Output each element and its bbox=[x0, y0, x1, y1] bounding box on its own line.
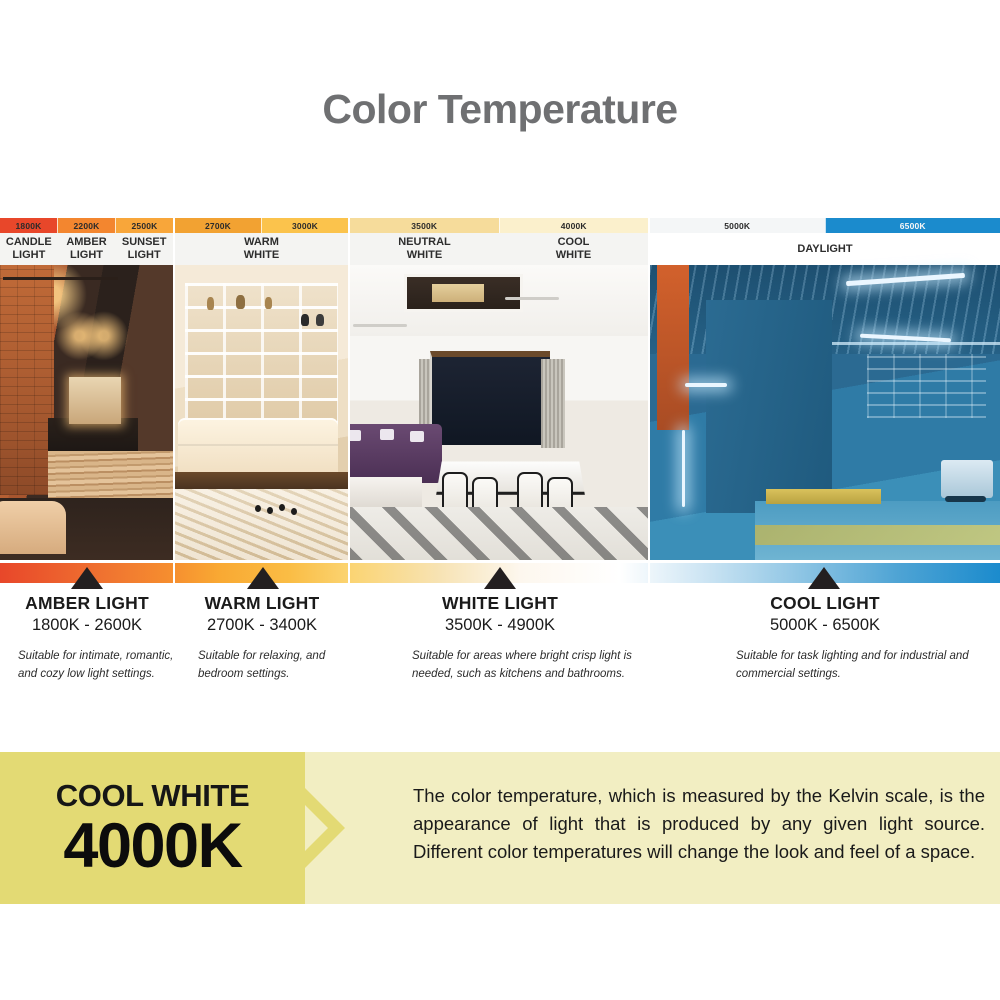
caption-amber-light: AMBER LIGHT 1800K - 2600K Suitable for i… bbox=[0, 594, 174, 684]
caption-warm-light: WARM LIGHT 2700K - 3400K Suitable for re… bbox=[174, 594, 350, 684]
label-line-2: LIGHT bbox=[12, 249, 45, 262]
decor-object bbox=[316, 314, 324, 326]
kelvin-cell-5000k: 5000K bbox=[650, 218, 825, 233]
guard-rail bbox=[766, 489, 882, 504]
banner-body-block: The color temperature, which is measured… bbox=[305, 752, 1000, 904]
label-line-1: COOL bbox=[558, 236, 590, 249]
kelvin-bar-amber: 1800K 2200K 2500K bbox=[0, 218, 173, 233]
panel-amber[interactable]: 1800K 2200K 2500K CANDLE LIGHT AMBER LIG… bbox=[0, 218, 173, 560]
caption-description: Suitable for relaxing, and bedroom setti… bbox=[174, 648, 350, 684]
bottom-banner: COOL WHITE 4000K The color temperature, … bbox=[0, 752, 1000, 904]
kelvin-cell-6500k: 6500K bbox=[825, 218, 1000, 233]
name-cell-neutral-white: NEUTRAL WHITE bbox=[350, 233, 499, 265]
label-line-1: CANDLE bbox=[6, 236, 52, 249]
label-line-1: SUNSET bbox=[122, 236, 167, 249]
banner-body-text: The color temperature, which is measured… bbox=[413, 782, 985, 865]
kelvin-cell-2200k: 2200K bbox=[57, 218, 115, 233]
gradient-divider bbox=[648, 563, 650, 583]
label-line-2: WHITE bbox=[556, 249, 591, 262]
leather-bench bbox=[0, 501, 66, 554]
delivery-truck bbox=[941, 460, 994, 498]
cushion bbox=[380, 429, 394, 440]
chess-piece bbox=[255, 505, 261, 512]
ceiling-rail bbox=[3, 277, 117, 280]
label-line-1: WARM bbox=[244, 236, 279, 249]
caption-range: 5000K - 6500K bbox=[650, 616, 1000, 634]
led-tube-light bbox=[682, 430, 685, 507]
name-band-neutral-cool: NEUTRAL WHITE COOL WHITE bbox=[350, 233, 648, 265]
cushion bbox=[350, 430, 361, 441]
ceiling-fan bbox=[353, 324, 407, 327]
gradient-divider bbox=[173, 563, 175, 583]
kelvin-cell-3000k: 3000K bbox=[261, 218, 348, 233]
overhead-rack bbox=[867, 354, 986, 419]
banner-highlight-label: COOL WHITE bbox=[56, 778, 249, 814]
photo-brick-cafe bbox=[0, 265, 173, 560]
photo-cream-lounge bbox=[175, 265, 348, 560]
caption-description: Suitable for areas where bright crisp li… bbox=[350, 648, 650, 684]
pointer-triangle-white bbox=[484, 567, 516, 589]
panel-warm[interactable]: 2700K 3000K WARM WHITE bbox=[175, 218, 348, 560]
caption-title: WARM LIGHT bbox=[174, 594, 350, 613]
kelvin-cell-3500k: 3500K bbox=[350, 218, 499, 233]
label-line-2: LIGHT bbox=[128, 249, 161, 262]
banner-highlight-kelvin: 4000K bbox=[63, 816, 241, 878]
label-line-1: DAYLIGHT bbox=[797, 243, 852, 255]
wood-panel bbox=[48, 451, 173, 498]
chevron-right-icon bbox=[305, 752, 365, 904]
kelvin-bar-warm: 2700K 3000K bbox=[175, 218, 348, 233]
structural-column bbox=[734, 289, 750, 513]
night-window bbox=[430, 351, 549, 445]
caption-white-light: WHITE LIGHT 3500K - 4900K Suitable for a… bbox=[350, 594, 650, 684]
decor-object bbox=[301, 314, 309, 326]
photo-living-dining bbox=[350, 265, 648, 560]
kelvin-cell-2700k: 2700K bbox=[175, 218, 261, 233]
kelvin-cell-1800k: 1800K bbox=[0, 218, 57, 233]
orange-duct bbox=[657, 265, 689, 430]
pointer-triangle-cool bbox=[808, 567, 840, 589]
kelvin-bar-neutral-cool: 3500K 4000K bbox=[350, 218, 648, 233]
caption-description: Suitable for intimate, romantic, and coz… bbox=[0, 648, 174, 684]
caption-range: 1800K - 2600K bbox=[0, 616, 174, 634]
photo-industrial-warehouse bbox=[650, 265, 1000, 560]
decor-object bbox=[236, 295, 245, 309]
pointer-triangle-warm bbox=[247, 567, 279, 589]
kelvin-cell-2500k: 2500K bbox=[115, 218, 173, 233]
espresso-machine bbox=[69, 377, 121, 424]
decor-object bbox=[207, 297, 214, 310]
cushion bbox=[410, 431, 424, 442]
name-cell-sunset-light: SUNSET LIGHT bbox=[115, 233, 173, 265]
name-band-amber: CANDLE LIGHT AMBER LIGHT SUNSET LIGHT bbox=[0, 233, 173, 265]
name-cell-cool-white: COOL WHITE bbox=[499, 233, 648, 265]
display-shelving bbox=[185, 283, 337, 425]
chess-piece bbox=[267, 507, 273, 514]
name-cell-daylight: DAYLIGHT bbox=[650, 233, 1000, 265]
pointer-triangle-amber bbox=[71, 567, 103, 589]
panel-daylight[interactable]: 5000K 6500K DAYLIGHT bbox=[650, 218, 1000, 560]
brick-wall bbox=[0, 265, 54, 495]
curtain-right bbox=[541, 359, 565, 448]
caption-title: COOL LIGHT bbox=[650, 594, 1000, 613]
name-cell-candle-light: CANDLE LIGHT bbox=[0, 233, 58, 265]
decor-object bbox=[265, 297, 272, 309]
caption-title: AMBER LIGHT bbox=[0, 594, 174, 613]
overhead-beam bbox=[832, 342, 1000, 345]
page-title: Color Temperature bbox=[0, 86, 1000, 133]
tray-ceiling-panel bbox=[404, 274, 523, 312]
coffee-table bbox=[350, 477, 422, 509]
caption-title: WHITE LIGHT bbox=[350, 594, 650, 613]
banner-highlight-block: COOL WHITE 4000K bbox=[0, 752, 305, 904]
label-line-2: LIGHT bbox=[70, 249, 103, 262]
caption-cool-light: COOL LIGHT 5000K - 6500K Suitable for ta… bbox=[650, 594, 1000, 684]
wood-console-table bbox=[175, 472, 348, 490]
label-line-1: AMBER bbox=[66, 236, 106, 249]
caption-description: Suitable for task lighting and for indus… bbox=[650, 648, 1000, 684]
name-cell-amber-light: AMBER LIGHT bbox=[58, 233, 116, 265]
kelvin-bar-daylight: 5000K 6500K bbox=[650, 218, 1000, 233]
marble-floor bbox=[175, 489, 348, 560]
name-band-warm: WARM WHITE bbox=[175, 233, 348, 265]
label-line-1: NEUTRAL bbox=[398, 236, 451, 249]
label-line-2: WHITE bbox=[407, 249, 442, 262]
name-cell-warm-white: WARM WHITE bbox=[175, 233, 348, 265]
kelvin-cell-4000k: 4000K bbox=[499, 218, 649, 233]
purple-sofa bbox=[350, 424, 442, 483]
interior-wall bbox=[706, 300, 832, 512]
floor-safety-stripe bbox=[755, 525, 1000, 546]
caption-range: 2700K - 3400K bbox=[174, 616, 350, 634]
panel-neutral-cool[interactable]: 3500K 4000K NEUTRAL WHITE COOL WHITE bbox=[350, 218, 648, 560]
gradient-divider bbox=[348, 563, 350, 583]
color-temperature-panel-strip: 1800K 2200K 2500K CANDLE LIGHT AMBER LIG… bbox=[0, 218, 1000, 560]
label-line-2: WHITE bbox=[244, 249, 279, 262]
caption-range: 3500K - 4900K bbox=[350, 616, 650, 634]
ceiling-fan bbox=[505, 297, 559, 300]
chess-piece bbox=[279, 504, 285, 511]
structural-column bbox=[776, 289, 792, 513]
infographic-page: Color Temperature 1800K 2200K 2500K CAND… bbox=[0, 0, 1000, 1000]
led-tube-light bbox=[685, 383, 727, 387]
patterned-tile-floor bbox=[350, 507, 648, 560]
structural-column bbox=[692, 289, 708, 513]
chess-piece bbox=[291, 508, 297, 515]
